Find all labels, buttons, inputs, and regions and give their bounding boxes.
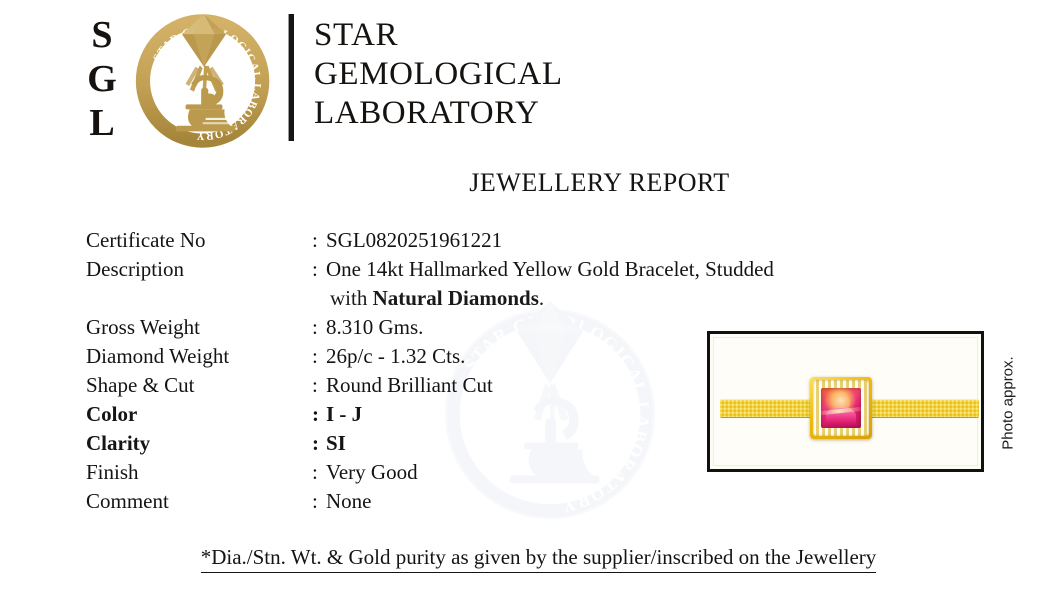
comment-text: None bbox=[326, 489, 372, 513]
color-text: I - J bbox=[326, 402, 362, 426]
wordmark-line-3: LABORATORY bbox=[314, 94, 734, 133]
field-value-gross-weight: :8.310 Gms. bbox=[312, 313, 423, 342]
sgl-monogram: S G L bbox=[78, 16, 126, 142]
field-label-description: Description bbox=[86, 255, 312, 284]
field-label-diamond-weight: Diamond Weight bbox=[86, 342, 312, 371]
description-continuation-row: with Natural Diamonds. bbox=[86, 284, 706, 313]
footer-disclaimer-text: *Dia./Stn. Wt. & Gold purity as given by… bbox=[201, 543, 877, 573]
field-row-color: Color :I - J bbox=[86, 400, 706, 429]
monogram-letter-l: L bbox=[89, 104, 114, 142]
description-text: One 14kt Hallmarked Yellow Gold Bracelet… bbox=[326, 257, 774, 281]
field-label-comment: Comment bbox=[86, 487, 312, 516]
description-prefix: with bbox=[330, 286, 373, 310]
report-header: S G L STAR GEMOLOGICAL LABORATORY bbox=[0, 0, 1049, 150]
finish-text: Very Good bbox=[326, 460, 418, 484]
clarity-text: SI bbox=[326, 431, 346, 455]
header-divider bbox=[288, 14, 294, 141]
centerpiece-image bbox=[821, 388, 861, 428]
photo-caption: Photo approx. bbox=[997, 333, 1019, 473]
field-value-color: :I - J bbox=[312, 400, 362, 429]
field-row-gross-weight: Gross Weight :8.310 Gms. bbox=[86, 313, 706, 342]
field-row-description: Description :One 14kt Hallmarked Yellow … bbox=[86, 255, 706, 284]
page-title-text: JEWELLERY REPORT bbox=[469, 168, 729, 198]
description-continuation-text: with Natural Diamonds. bbox=[312, 284, 544, 313]
field-label-gross-weight: Gross Weight bbox=[86, 313, 312, 342]
description-emphasis: Natural Diamonds bbox=[373, 286, 539, 310]
certificate-no-text: SGL0820251961221 bbox=[326, 228, 502, 252]
photo-caption-text: Photo approx. bbox=[1000, 356, 1017, 449]
colon-separator: : bbox=[312, 458, 326, 487]
field-row-diamond-weight: Diamond Weight :26p/c - 1.32 Cts. bbox=[86, 342, 706, 371]
colon-separator: : bbox=[312, 371, 326, 400]
footer-disclaimer: *Dia./Stn. Wt. & Gold purity as given by… bbox=[0, 543, 1049, 573]
field-row-certificate-no: Certificate No :SGL0820251961221 bbox=[86, 226, 706, 255]
field-value-clarity: :SI bbox=[312, 429, 346, 458]
field-row-comment: Comment :None bbox=[86, 487, 706, 516]
field-value-diamond-weight: :26p/c - 1.32 Cts. bbox=[312, 342, 465, 371]
gross-weight-text: 8.310 Gms. bbox=[326, 315, 423, 339]
report-fields: Certificate No :SGL0820251961221 Descrip… bbox=[86, 226, 706, 516]
field-row-finish: Finish :Very Good bbox=[86, 458, 706, 487]
colon-separator: : bbox=[312, 255, 326, 284]
field-label-color: Color bbox=[86, 400, 312, 429]
laboratory-seal-logo: STAR GEMOLOGICAL LABORATORY bbox=[133, 10, 275, 152]
field-label-shape-cut: Shape & Cut bbox=[86, 371, 312, 400]
jewellery-photo bbox=[713, 337, 978, 466]
description-suffix: . bbox=[539, 286, 544, 310]
shape-cut-text: Round Brilliant Cut bbox=[326, 373, 493, 397]
field-row-clarity: Clarity :SI bbox=[86, 429, 706, 458]
colon-separator: : bbox=[312, 342, 326, 371]
field-value-description: :One 14kt Hallmarked Yellow Gold Bracele… bbox=[312, 255, 774, 284]
bracelet-centerpiece bbox=[810, 377, 872, 439]
field-label-clarity: Clarity bbox=[86, 429, 312, 458]
field-value-certificate-no: :SGL0820251961221 bbox=[312, 226, 502, 255]
monogram-letter-s: S bbox=[91, 16, 112, 54]
wordmark-line-1: STAR bbox=[314, 16, 734, 55]
field-label-finish: Finish bbox=[86, 458, 312, 487]
colon-separator: : bbox=[312, 487, 326, 516]
laboratory-wordmark: STAR GEMOLOGICAL LABORATORY bbox=[314, 16, 734, 133]
colon-separator: : bbox=[312, 400, 326, 429]
colon-separator: : bbox=[312, 429, 326, 458]
page-title: JEWELLERY REPORT bbox=[0, 168, 1049, 198]
field-row-shape-cut: Shape & Cut :Round Brilliant Cut bbox=[86, 371, 706, 400]
description-indent-spacer bbox=[86, 284, 312, 313]
field-label-certificate-no: Certificate No bbox=[86, 226, 312, 255]
field-value-finish: :Very Good bbox=[312, 458, 418, 487]
jewellery-photo-frame bbox=[707, 331, 984, 472]
colon-separator: : bbox=[312, 313, 326, 342]
wordmark-line-2: GEMOLOGICAL bbox=[314, 55, 734, 94]
colon-separator: : bbox=[312, 226, 326, 255]
field-value-comment: :None bbox=[312, 487, 372, 516]
field-value-shape-cut: :Round Brilliant Cut bbox=[312, 371, 493, 400]
diamond-weight-text: 26p/c - 1.32 Cts. bbox=[326, 344, 465, 368]
monogram-letter-g: G bbox=[87, 60, 117, 98]
